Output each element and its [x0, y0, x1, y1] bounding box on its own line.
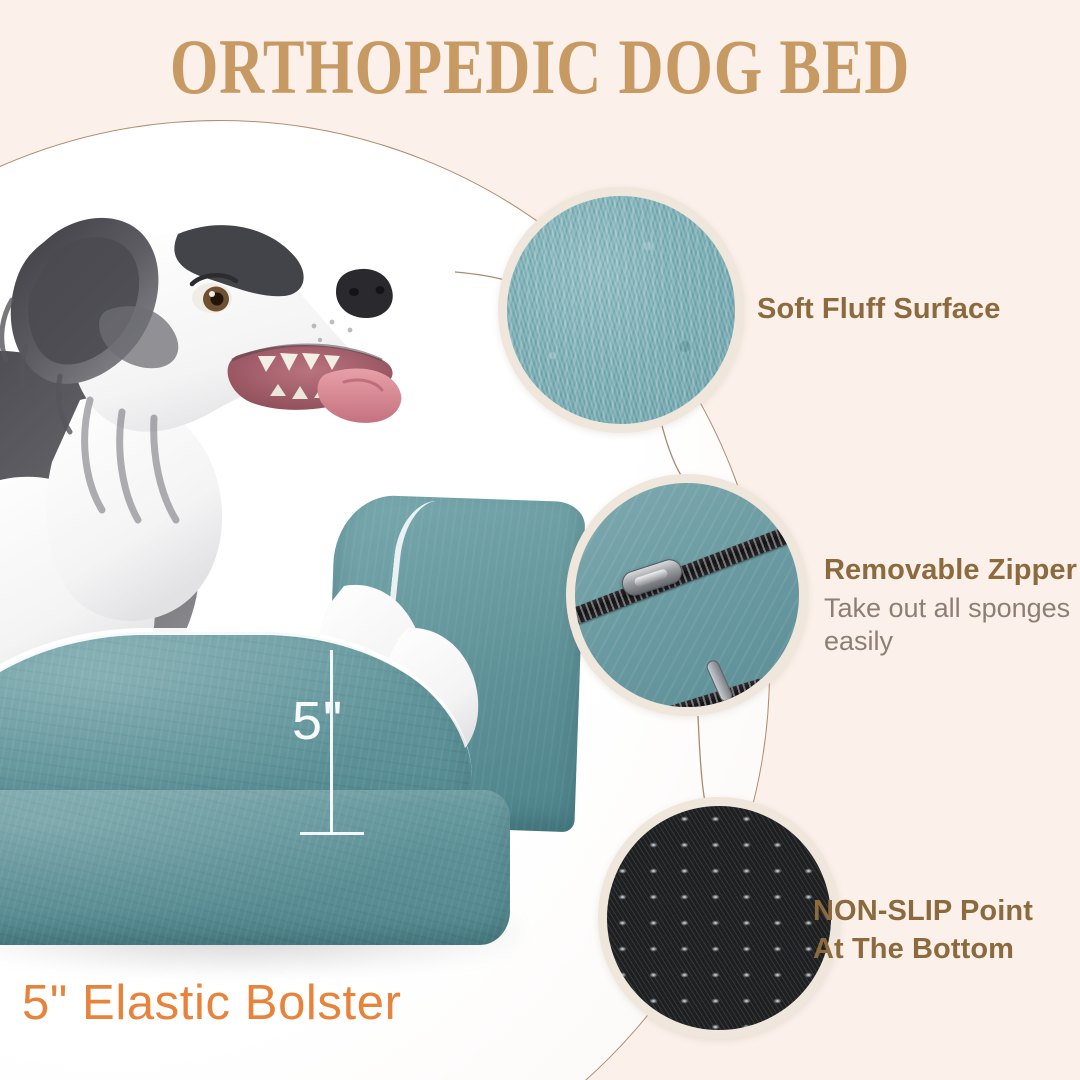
feature-label-non-slip-line1: NON-SLIP Point	[813, 895, 1033, 927]
bed-base-cushion	[0, 790, 510, 945]
dimension-label: 5"	[292, 690, 343, 752]
bolster-caption: 5" Elastic Bolster	[22, 975, 402, 1031]
feature-label-non-slip: NON-SLIP Point At The Bottom	[813, 892, 1043, 969]
feature-label-removable-zipper: Removable Zipper	[824, 554, 1077, 587]
feature-label-non-slip-line2: At The Bottom	[813, 933, 1014, 965]
feature-label-soft-fluff: Soft Fluff Surface	[757, 293, 1000, 326]
nonslip-swatch-icon	[598, 797, 840, 1039]
zipper-swatch-icon	[566, 474, 808, 716]
feature-subtitle-removable-zipper: Take out all sponges easily	[824, 592, 1080, 658]
fleece-swatch-icon	[498, 187, 744, 433]
dimension-end-cap	[300, 832, 364, 835]
product-infographic: ORTHOPEDIC DOG BED	[0, 0, 1080, 1080]
